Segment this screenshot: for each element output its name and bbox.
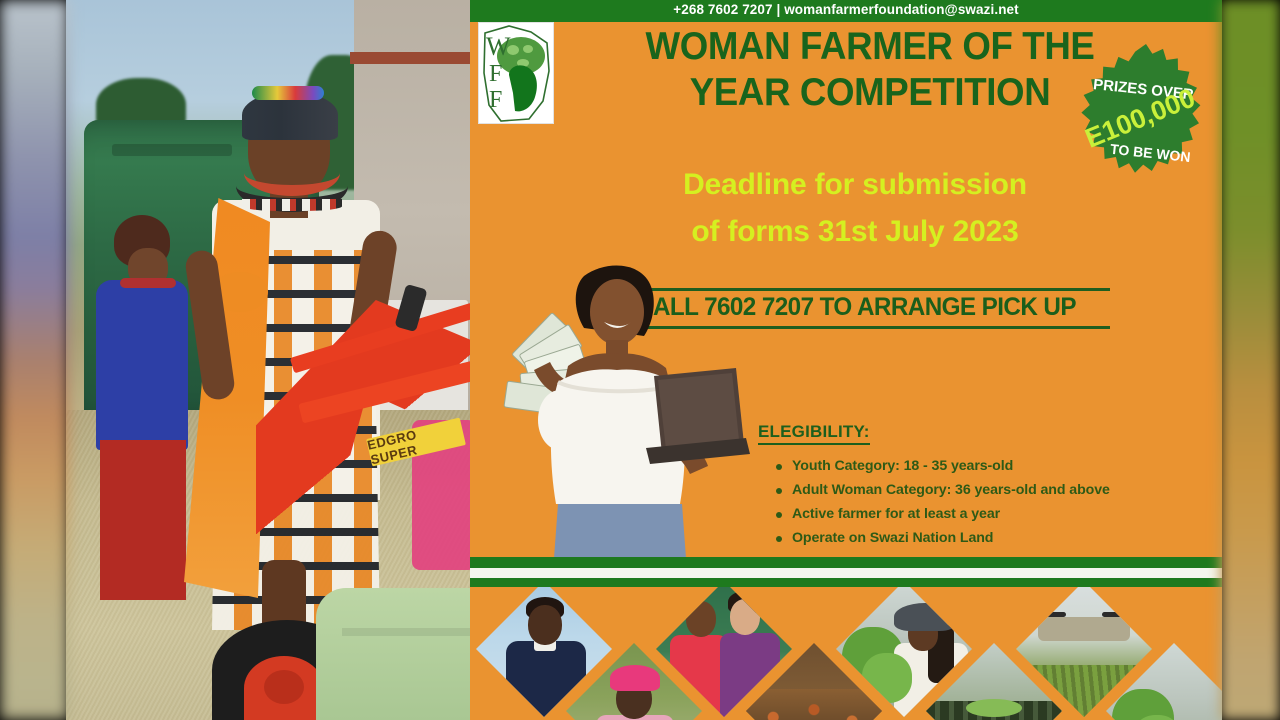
deadline-text: Deadline for submission of forms 31st Ju…	[620, 162, 1090, 255]
photo-tile-strip	[470, 587, 1222, 720]
main-woman-necklace-inner	[244, 150, 340, 196]
wff-logo-graphic: W F F	[479, 23, 554, 124]
contact-bar-rule	[470, 18, 1222, 22]
divider-white	[470, 568, 1222, 578]
green-machine-body	[316, 588, 470, 720]
list-item: Active farmer for at least a year	[792, 503, 1208, 527]
divider-green-top	[470, 557, 1222, 568]
bystander-red-skirt	[100, 440, 186, 600]
bystander-necklace	[120, 278, 176, 288]
page-title: WOMAN FARMER OF THE YEAR COMPETITION	[588, 24, 1152, 116]
svg-text:F: F	[489, 61, 502, 87]
title-line-1: WOMAN FARMER OF THE	[588, 24, 1152, 70]
wff-logo: W F F	[478, 22, 554, 124]
hero-photo-woman-on-tractor: EDGRO SUPER	[66, 0, 470, 720]
bystander-blue-top	[96, 280, 188, 450]
right-edge-gradient	[1220, 0, 1280, 720]
title-line-2: YEAR COMPETITION	[588, 70, 1152, 116]
deadline-line-2: of forms 31st July 2023	[620, 209, 1090, 256]
tractor-wheel-hub	[244, 656, 324, 720]
left-edge-gradient	[0, 0, 69, 720]
list-item: Adult Woman Category: 36 years-old and a…	[792, 479, 1208, 503]
svg-text:F: F	[489, 87, 502, 113]
divider-green-bottom	[470, 578, 1222, 587]
contact-bar: +268 7602 7207 | womanfarmerfoundation@s…	[470, 0, 1222, 18]
prize-badge: badge PRIZES OVER E100,000 TO BE WON	[1072, 42, 1220, 190]
eligibility-list: Youth Category: 18 - 35 years-old Adult …	[792, 455, 1208, 550]
laptop	[646, 368, 750, 464]
main-woman-headwrap	[242, 92, 338, 140]
list-item: Operate on Swazi Nation Land	[792, 527, 1208, 551]
deadline-line-1: Deadline for submission	[620, 162, 1090, 209]
woman-with-laptop-photo	[500, 258, 760, 558]
svg-text:W: W	[486, 32, 511, 61]
eligibility-section: ELEGIBILITY: Youth Category: 18 - 35 yea…	[758, 422, 1208, 551]
eligibility-heading: ELEGIBILITY:	[758, 422, 870, 445]
prize-badge-graphic: badge PRIZES OVER E100,000 TO BE WON	[1072, 42, 1220, 190]
poster-screenshot: EDGRO SUPER +268 7602 7207 | womanfarmer…	[0, 0, 1280, 720]
poster-panel: +268 7602 7207 | womanfarmerfoundation@s…	[470, 0, 1222, 720]
woman-with-laptop-graphic	[500, 258, 760, 558]
list-item: Youth Category: 18 - 35 years-old	[792, 455, 1208, 479]
